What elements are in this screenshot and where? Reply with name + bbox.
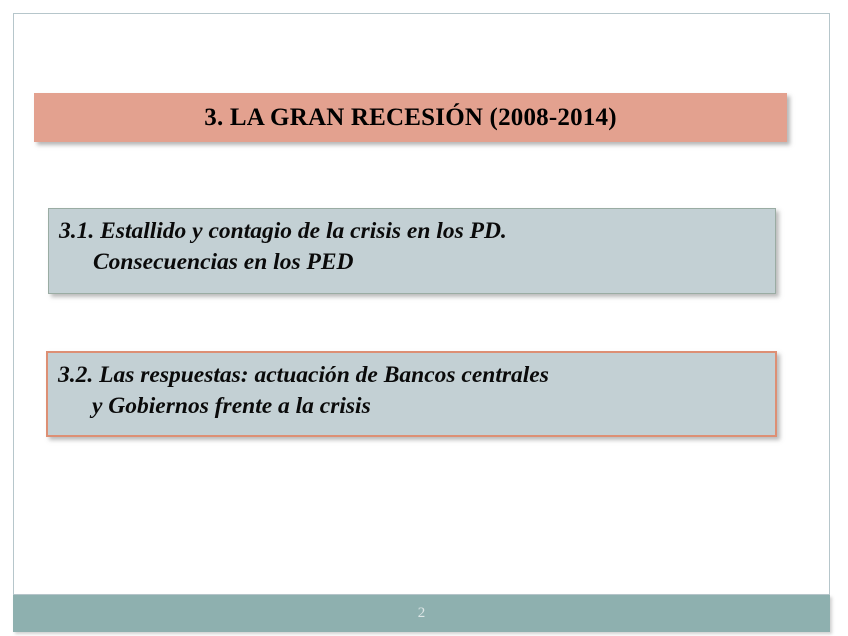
page-title: 3. LA GRAN RECESIÓN (2008-2014): [204, 105, 616, 130]
slide-title-banner: 3. LA GRAN RECESIÓN (2008-2014): [34, 93, 787, 142]
section-3-2-line-2: y Gobiernos frente a la crisis: [58, 391, 765, 422]
section-3-2-line-1: 3.2. Las respuestas: actuación de Bancos…: [58, 360, 765, 391]
section-3-1-line-1: 3.1. Estallido y contagio de la crisis e…: [59, 216, 765, 247]
page-number: 2: [418, 606, 426, 621]
section-box-3-2[interactable]: 3.2. Las respuestas: actuación de Bancos…: [46, 351, 777, 437]
slide-footer-bar: 2: [13, 595, 830, 632]
section-box-3-1[interactable]: 3.1. Estallido y contagio de la crisis e…: [48, 208, 776, 294]
slide-canvas: 3. LA GRAN RECESIÓN (2008-2014) 3.1. Est…: [13, 13, 830, 595]
section-3-1-line-2: Consecuencias en los PED: [59, 247, 765, 278]
